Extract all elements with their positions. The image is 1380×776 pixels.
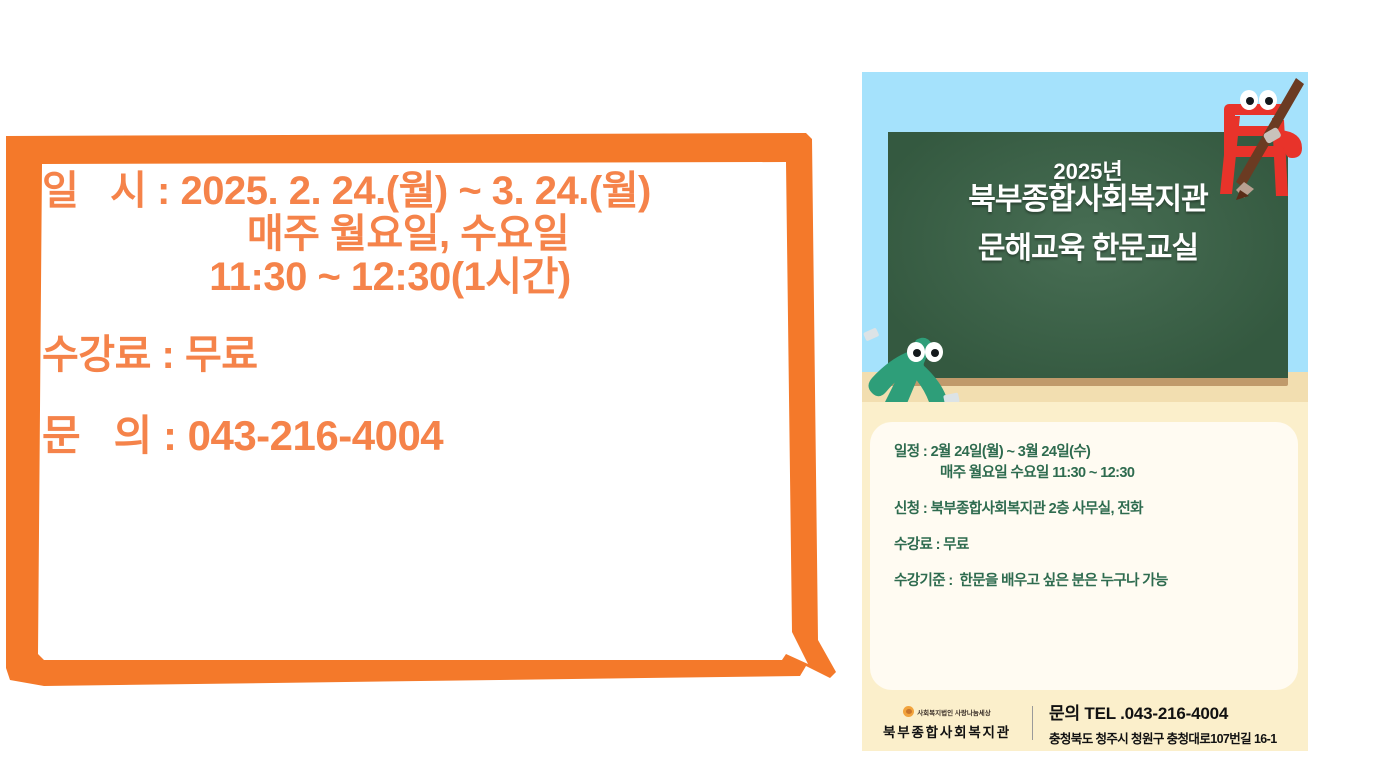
detail-row-schedule-continued: 매주 월요일 수요일 11:30 ~ 12:30 xyxy=(894,463,1286,484)
detail-row-fee: 수강료 : 무료 xyxy=(894,535,1286,556)
detail-spacer-1 xyxy=(894,484,1286,499)
footer-contact-block: 문의 TEL .043-216-4004 충청북도 청주시 청원구 충청대로10… xyxy=(1033,699,1277,747)
callout-line-phone: 문 의 : 043-216-4004 xyxy=(30,413,810,458)
info-callout-panel: 일 시 : 2025. 2. 24.(월) ~ 3. 24.(월) 매주 월요일… xyxy=(0,120,860,690)
logo-organization-name: 북부종합사회복지관 xyxy=(862,721,1032,741)
spacer-a xyxy=(30,300,810,334)
detail-spacer-2 xyxy=(894,520,1286,535)
callout-line-time: 11:30 ~ 12:30(1시간) xyxy=(30,256,810,299)
detail-row-schedule: 일정 : 2월 24일(월) ~ 3월 24일(수) xyxy=(894,442,1286,463)
logo-tagline: 사회복지법인 사랑나눔세상 xyxy=(917,707,991,717)
footer-telephone: 문의 TEL .043-216-4004 xyxy=(1049,699,1277,724)
detail-spacer-3 xyxy=(894,556,1286,571)
callout-line-fee: 수강료 : 무료 xyxy=(30,334,810,377)
callout-text-block: 일 시 : 2025. 2. 24.(월) ~ 3. 24.(월) 매주 월요일… xyxy=(30,170,810,640)
poster-footer: 사회복지법인 사랑나눔세상 북부종합사회복지관 문의 TEL .043-216-… xyxy=(862,694,1308,751)
logo-top-row: 사회복지법인 사랑나눔세상 xyxy=(862,705,1032,719)
poster-program-title: 문해교육 한문교실 xyxy=(888,232,1288,266)
organization-logo: 사회복지법인 사랑나눔세상 북부종합사회복지관 xyxy=(862,705,1032,741)
poster-details-card: 일정 : 2월 24일(월) ~ 3월 24일(수) 매주 월요일 수요일 11… xyxy=(870,422,1298,690)
detail-row-eligibility: 수강기준 : 한문을 배우고 싶은 분은 누구나 가능 xyxy=(894,571,1286,592)
detail-row-application: 신청 : 북부종합사회복지관 2층 사무실, 전화 xyxy=(894,499,1286,520)
footer-address: 충청북도 청주시 청원구 충청대로107번길 16-1 xyxy=(1049,728,1277,747)
callout-line-weekdays: 매주 월요일, 수요일 xyxy=(30,213,810,256)
red-character-with-brush-icon xyxy=(1192,78,1308,200)
program-poster: 2025년 북부종합사회복지관 문해교육 한문교실 xyxy=(862,72,1308,751)
callout-line-schedule: 일 시 : 2025. 2. 24.(월) ~ 3. 24.(월) xyxy=(30,170,810,213)
foundation-mark-icon xyxy=(903,706,914,717)
poster-details-list: 일정 : 2월 24일(월) ~ 3월 24일(수) 매주 월요일 수요일 11… xyxy=(894,442,1286,592)
spacer-b xyxy=(30,377,810,413)
